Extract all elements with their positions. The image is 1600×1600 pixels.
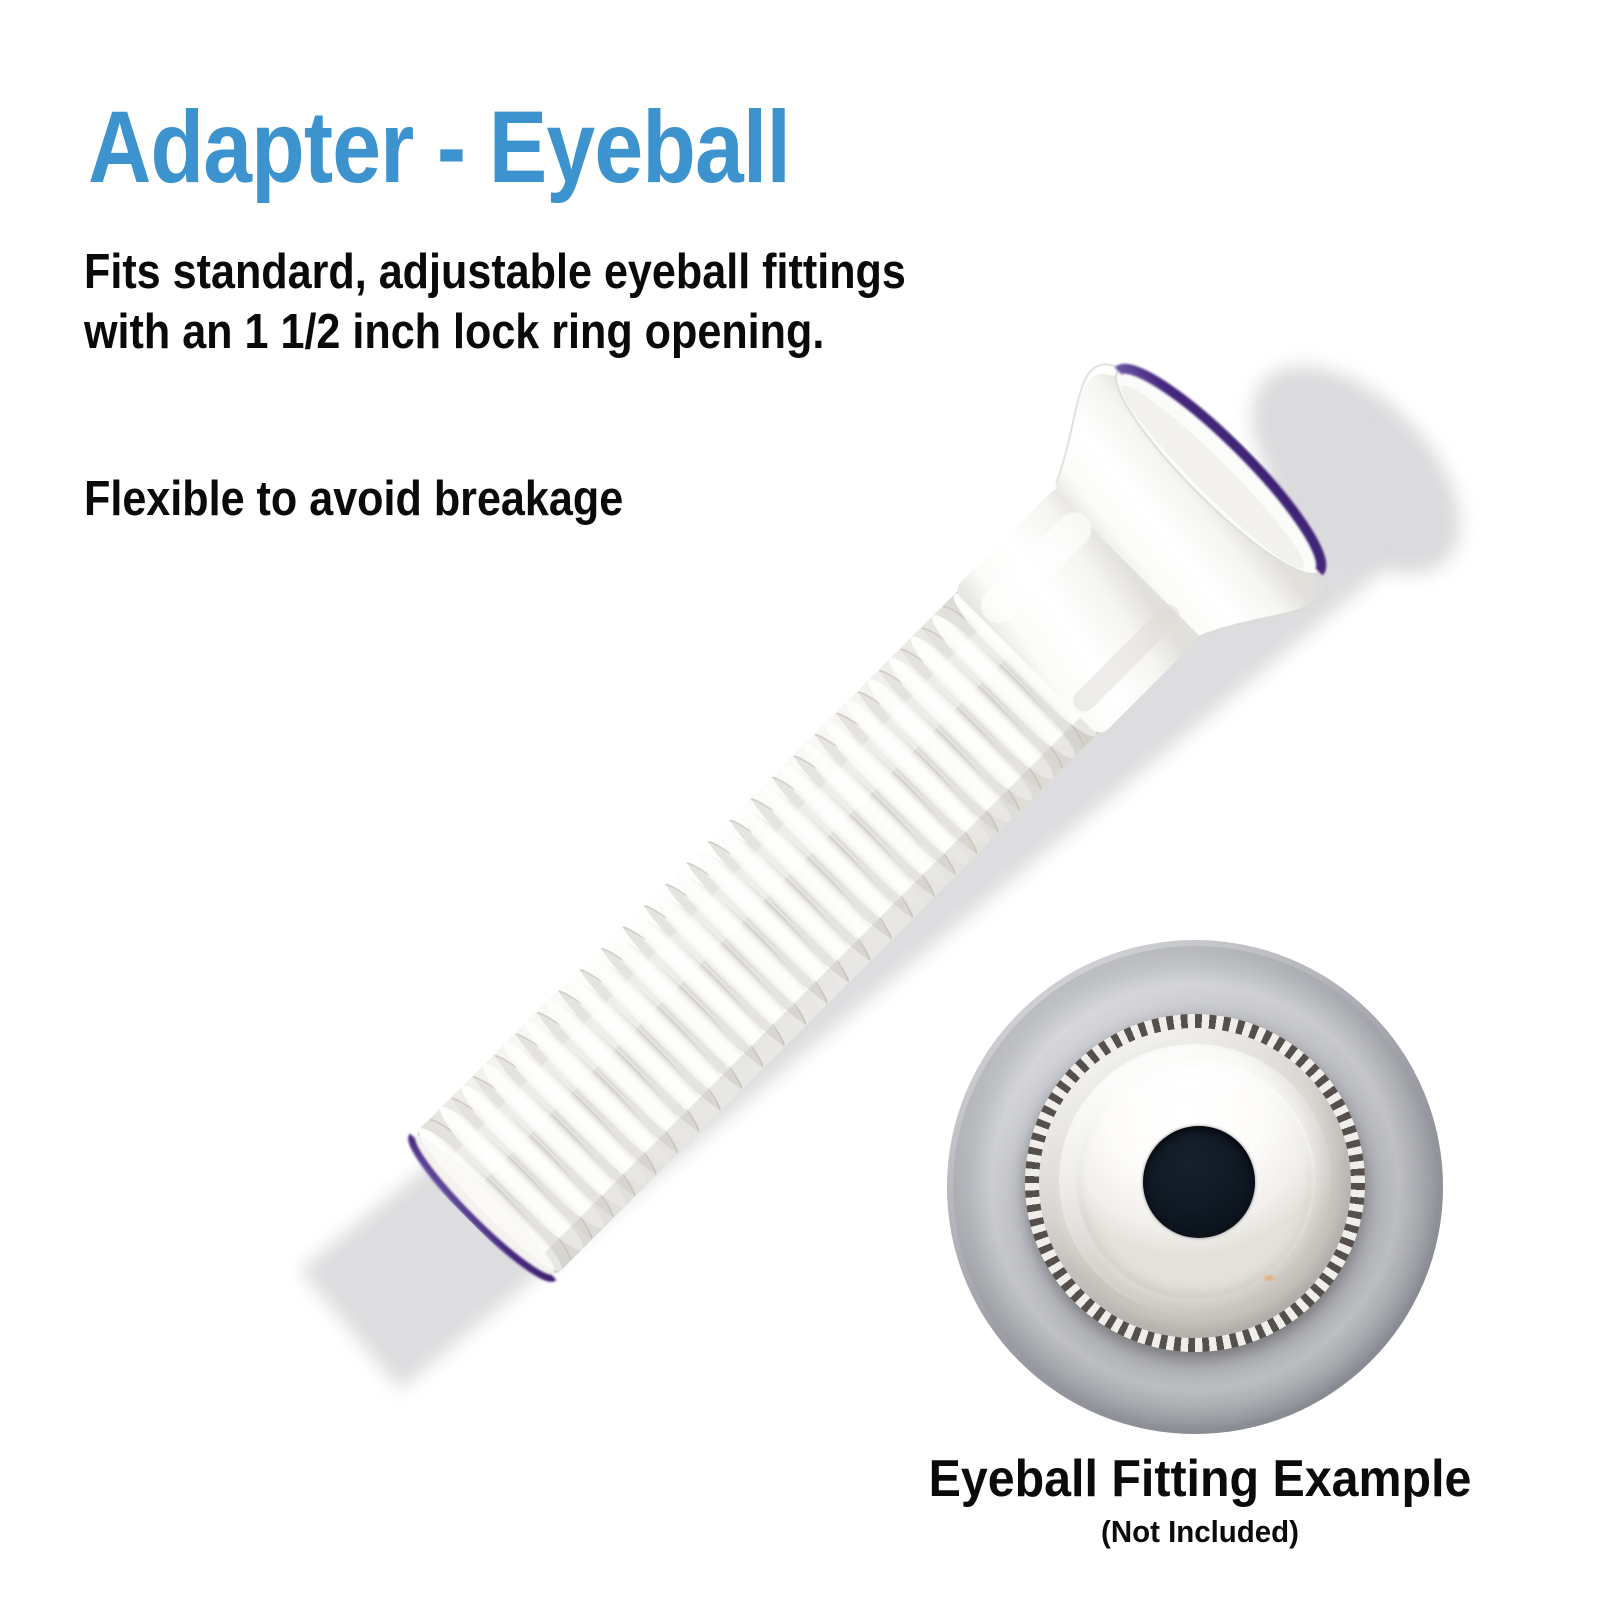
eyeball-center-hole xyxy=(1143,1126,1255,1238)
eyeball-orange-glint xyxy=(1259,1272,1279,1284)
product-image-canvas: Adapter - Eyeball Fits standard, adjusta… xyxy=(0,0,1600,1600)
eyeball-fitting-graphic xyxy=(947,940,1443,1436)
product-description: Fits standard, adjustable eyeball fittin… xyxy=(84,243,964,363)
example-caption-block: Eyeball Fitting Example (Not Included) xyxy=(860,1452,1540,1548)
hose-flared-cup xyxy=(912,336,1355,779)
example-caption: Eyeball Fitting Example xyxy=(884,1452,1516,1507)
hose-cut-end xyxy=(401,1125,565,1289)
example-caption-note: (Not Included) xyxy=(877,1516,1523,1549)
page-title: Adapter - Eyeball xyxy=(88,96,790,198)
product-tagline: Flexible to avoid breakage xyxy=(84,470,623,529)
